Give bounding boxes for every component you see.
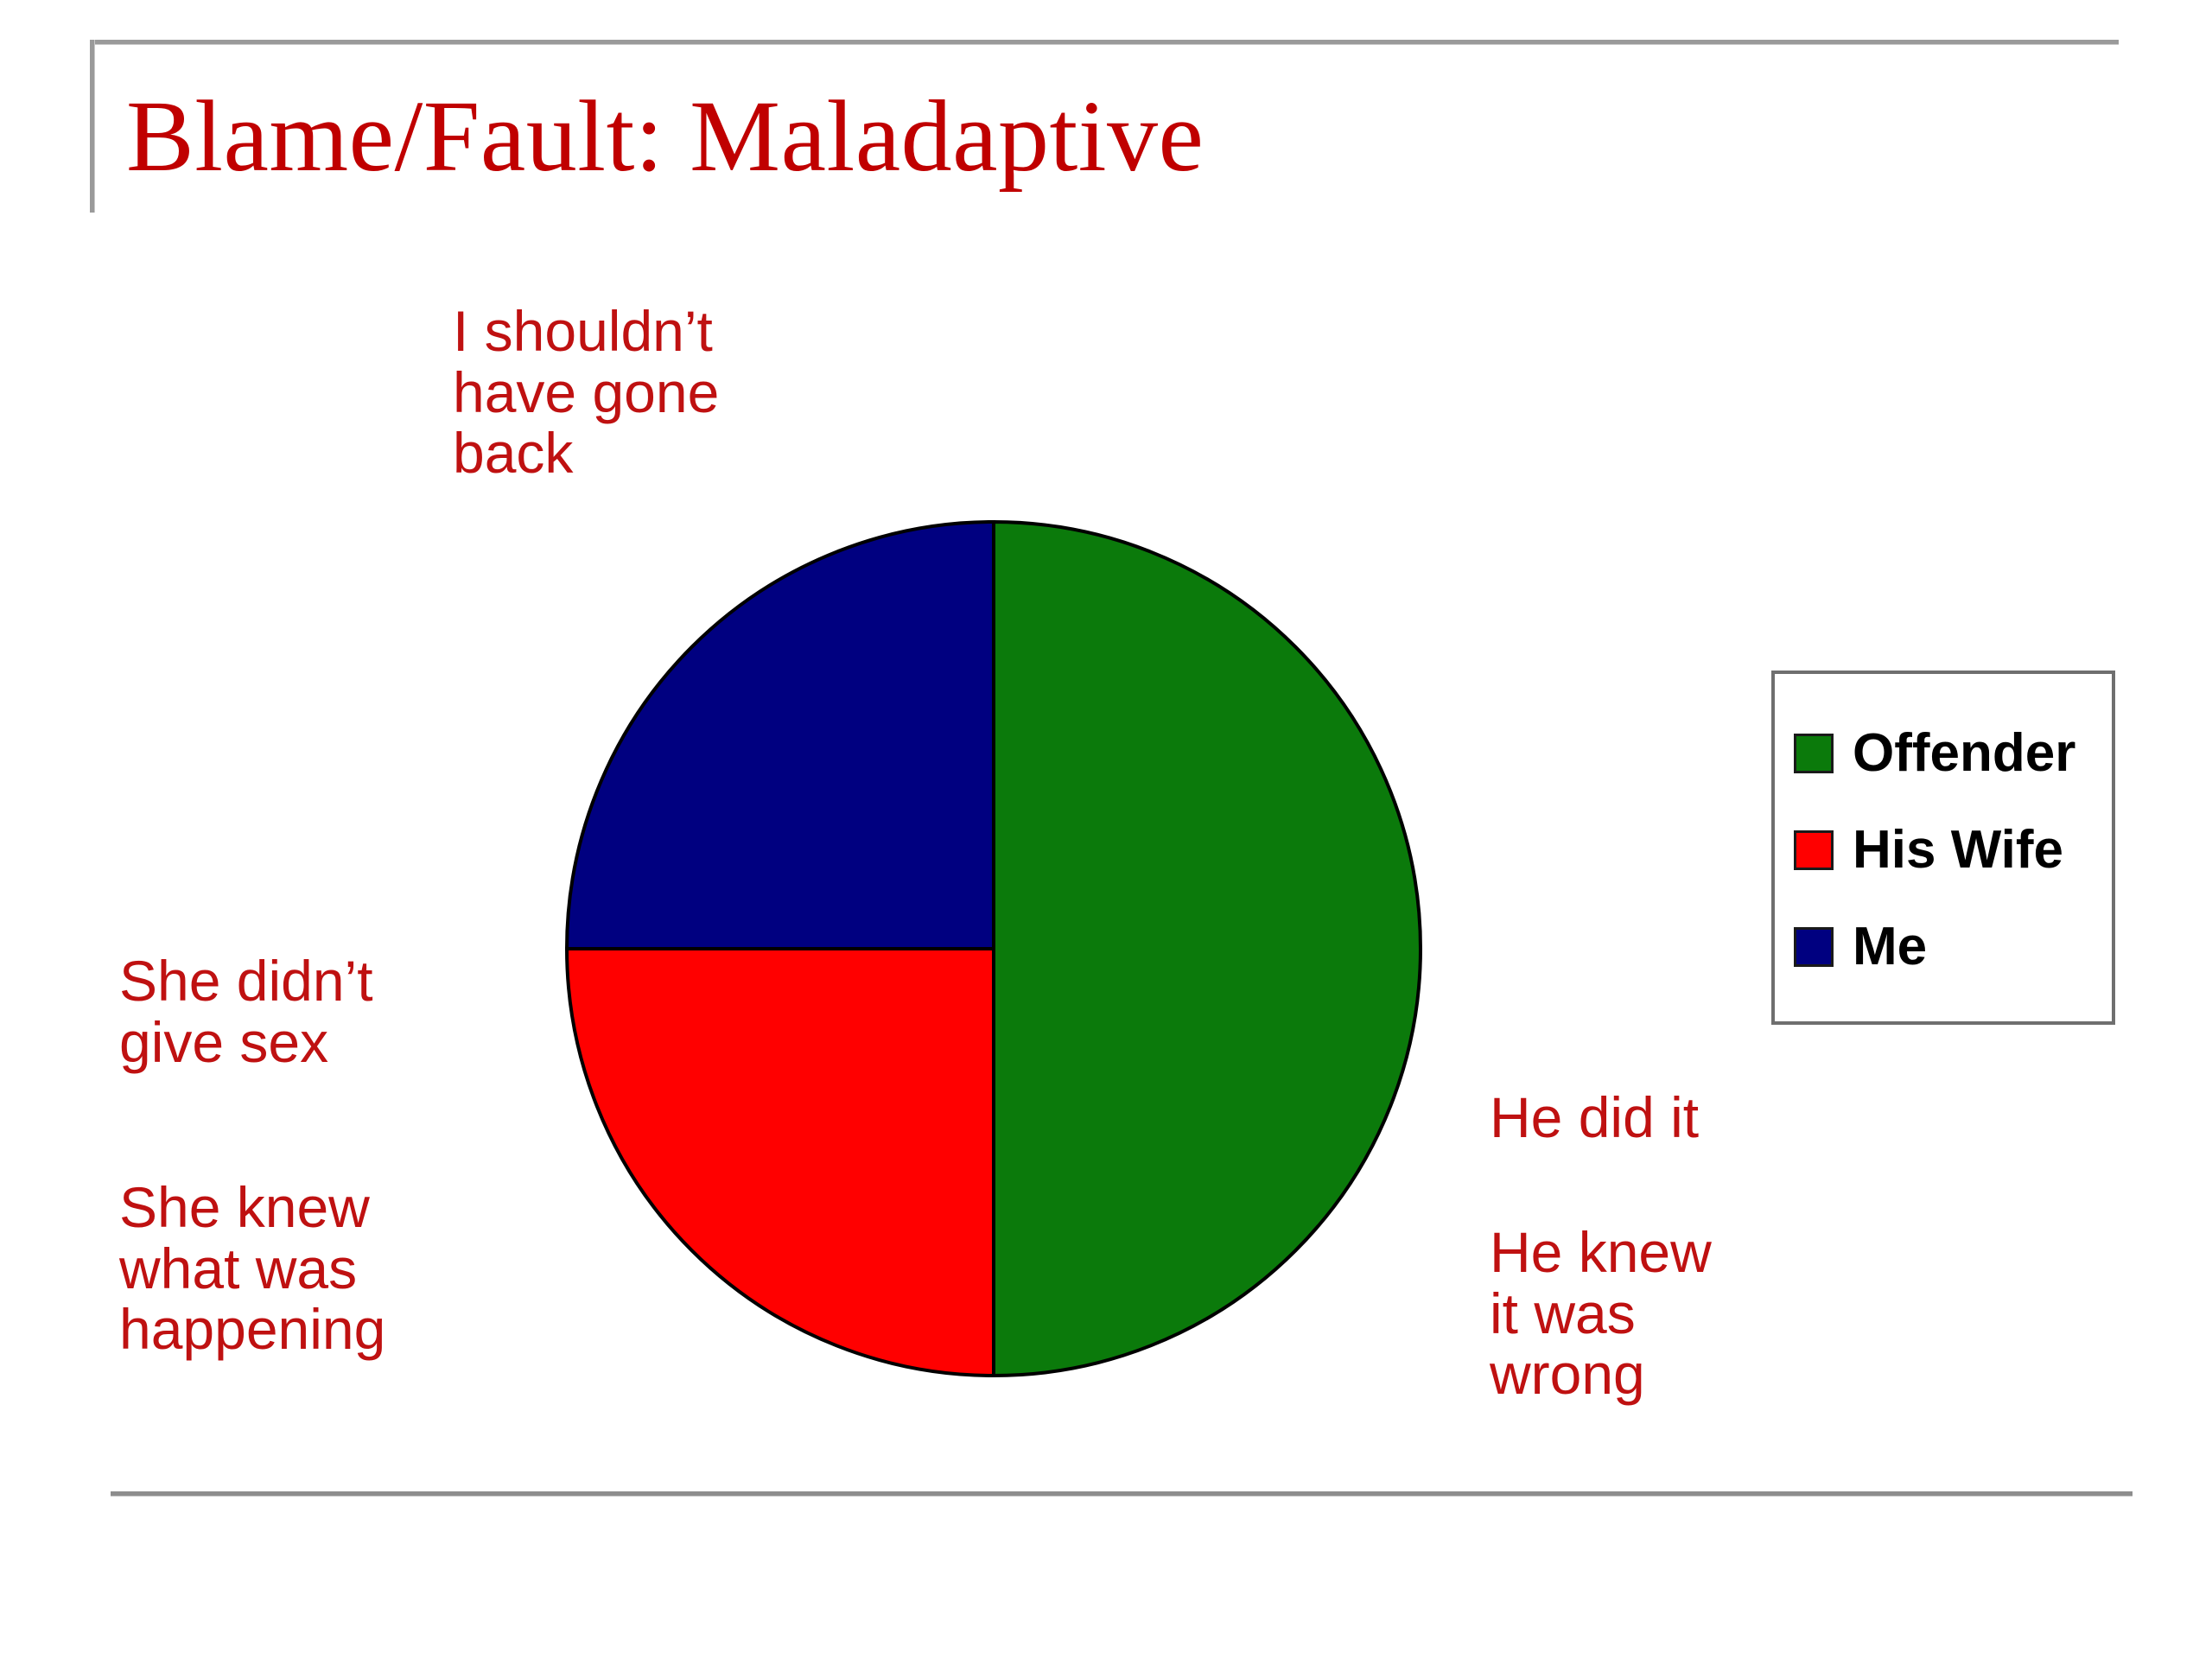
footer-rule-bottom: [111, 1491, 2133, 1496]
legend-swatch-offender: [1794, 734, 1834, 773]
annotation-offender-lower-right: He knew it was wrong: [1490, 1222, 1835, 1405]
annotation-his-wife-left: She didn’t give sex: [119, 950, 491, 1072]
legend-item-offender: Offender: [1794, 705, 2112, 802]
legend-label-offender: Offender: [1853, 727, 2075, 780]
chart-legend: Offender His Wife Me: [1771, 671, 2115, 1025]
pie-chart: [562, 517, 1426, 1381]
legend-swatch-me: [1794, 927, 1834, 967]
pie-slice-me: [567, 522, 994, 949]
annotation-his-wife-lower-left: She knew what was happening: [119, 1177, 491, 1360]
header-rule-left: [90, 40, 94, 213]
slide-canvas: Blame/Fault: Maladaptive I shouldn’t hav…: [0, 0, 2212, 1659]
legend-swatch-his-wife: [1794, 830, 1834, 870]
legend-label-me: Me: [1853, 920, 1927, 974]
legend-item-me: Me: [1794, 899, 2112, 995]
slide-title: Blame/Fault: Maladaptive: [126, 83, 1204, 190]
pie-chart-svg: [562, 517, 1426, 1381]
pie-slice-offender: [994, 522, 1421, 1376]
annotation-offender-right: He did it: [1490, 1087, 1861, 1148]
legend-item-his-wife: His Wife: [1794, 802, 2112, 899]
header-rule-top: [90, 40, 2119, 44]
pie-slice-his-wife: [567, 949, 994, 1376]
legend-label-his-wife: His Wife: [1853, 823, 2063, 877]
annotation-me-top-left: I shouldn’t have gone back: [453, 301, 833, 484]
